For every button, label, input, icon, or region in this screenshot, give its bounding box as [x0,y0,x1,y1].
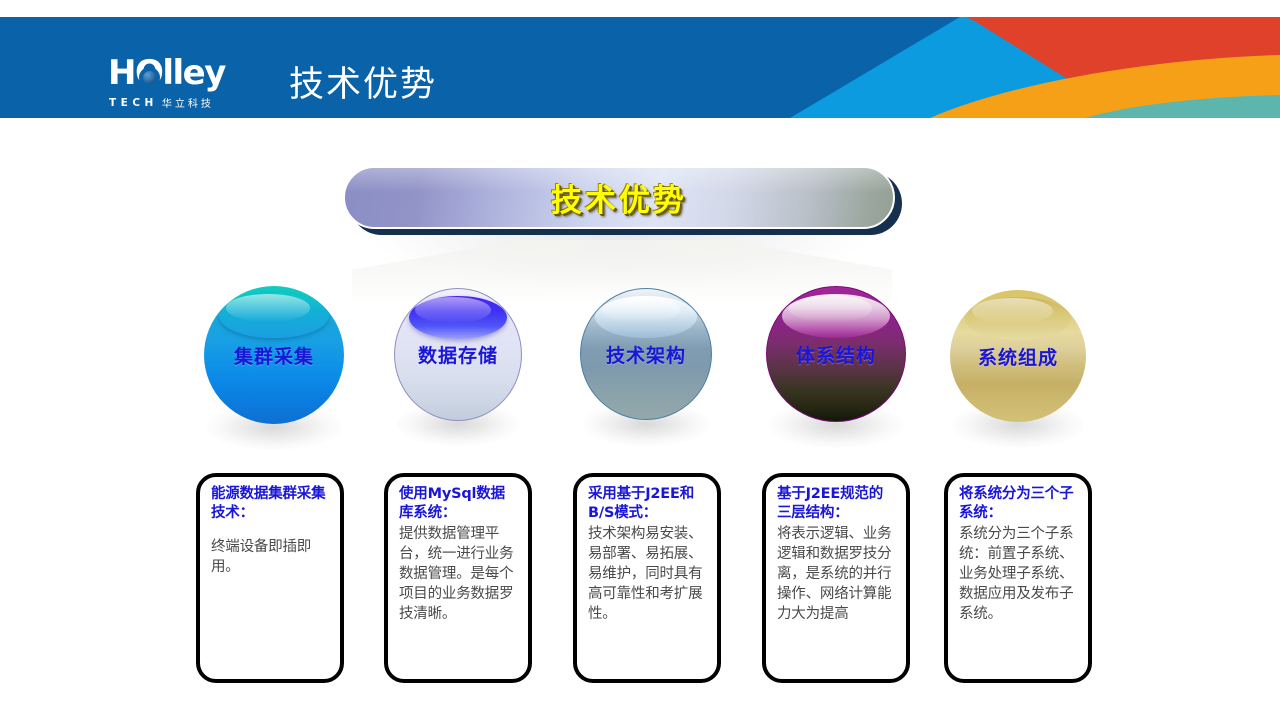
sphere-highlight-cap [409,296,507,339]
sphere-label: 体系结构 [796,341,876,368]
sphere-cluster-collection[interactable]: 集群采集 [204,286,344,424]
sphere-gloss [789,295,872,322]
logo-ring-icon [139,67,160,88]
sphere-label: 数据存储 [418,341,498,368]
header-title: 技术优势 [289,64,437,106]
card-title: 基于J2EE规范的三层结构： [777,485,897,523]
slide-canvas: HOlley TECH 华立科技 技术优势 技术优势 集群采集 数据存储 [0,0,1280,720]
sphere-system-composition[interactable]: 系统组成 [950,290,1086,422]
card-body: 将表示逻辑、业务逻辑和数据罗技分离，是系统的并行操作、网络计算能力大为提高 [777,524,897,624]
info-card[interactable]: 将系统分为三个子系统： 系统分为三个子系统：前置子系统、业务处理子系统、数据应用… [944,473,1092,683]
sphere-highlight-cap [965,297,1071,341]
card-body: 技术架构易安装、易部署、易拓展、易维护，同时具有高可靠性和考扩展性。 [588,524,708,624]
slide-header: HOlley TECH 华立科技 技术优势 [0,17,1280,118]
sphere-system-architecture[interactable]: 体系结构 [766,286,906,422]
sphere-gloss [602,297,680,323]
sphere-highlight-cap [219,293,328,339]
sphere-label: 系统组成 [978,343,1058,370]
card-title: 采用基于J2EE和B/S模式： [588,485,708,523]
banner-title: 技术优势 [551,175,687,220]
card-body: 终端设备即插即用。 [211,537,331,577]
logo-subtitle-cn: 华立科技 [162,95,214,110]
card-body: 系统分为三个子系统：前置子系统、业务处理子系统、数据应用及发布子系统。 [959,524,1079,624]
sphere-data-storage[interactable]: 数据存储 [394,288,522,421]
holley-logo: HOlley TECH 华立科技 [108,59,268,111]
sphere-highlight-cap [595,296,696,339]
sphere-label: 集群采集 [234,342,314,369]
logo-wordmark-group: HOlley [108,59,268,93]
logo-subtitle: TECH 华立科技 [109,95,267,110]
info-card[interactable]: 基于J2EE规范的三层结构： 将表示逻辑、业务逻辑和数据罗技分离，是系统的并行操… [762,473,910,683]
card-title: 使用MySql数据库系统： [399,485,519,523]
banner-pill: 技术优势 [343,166,895,229]
sphere-label: 技术架构 [606,341,686,368]
card-title: 将系统分为三个子系统： [959,485,1079,523]
info-card[interactable]: 采用基于J2EE和B/S模式： 技术架构易安装、易部署、易拓展、易维护，同时具有… [573,473,721,683]
sphere-highlight-cap [782,294,890,338]
sphere-gloss [415,297,491,323]
sphere-gloss [972,298,1054,324]
card-title: 能源数据集群采集技术： [211,485,331,523]
logo-wordmark: HOlley [108,56,225,90]
sphere-tech-architecture[interactable]: 技术架构 [580,288,712,420]
card-body: 提供数据管理平台，统一进行业务数据管理。是每个项目的业务数据罗技清晰。 [399,524,519,624]
info-card[interactable]: 能源数据集群采集技术： 终端设备即插即用。 [196,473,344,683]
logo-subtitle-en: TECH [109,97,158,109]
sphere-gloss [226,294,310,322]
info-card[interactable]: 使用MySql数据库系统： 提供数据管理平台，统一进行业务数据管理。是每个项目的… [384,473,532,683]
